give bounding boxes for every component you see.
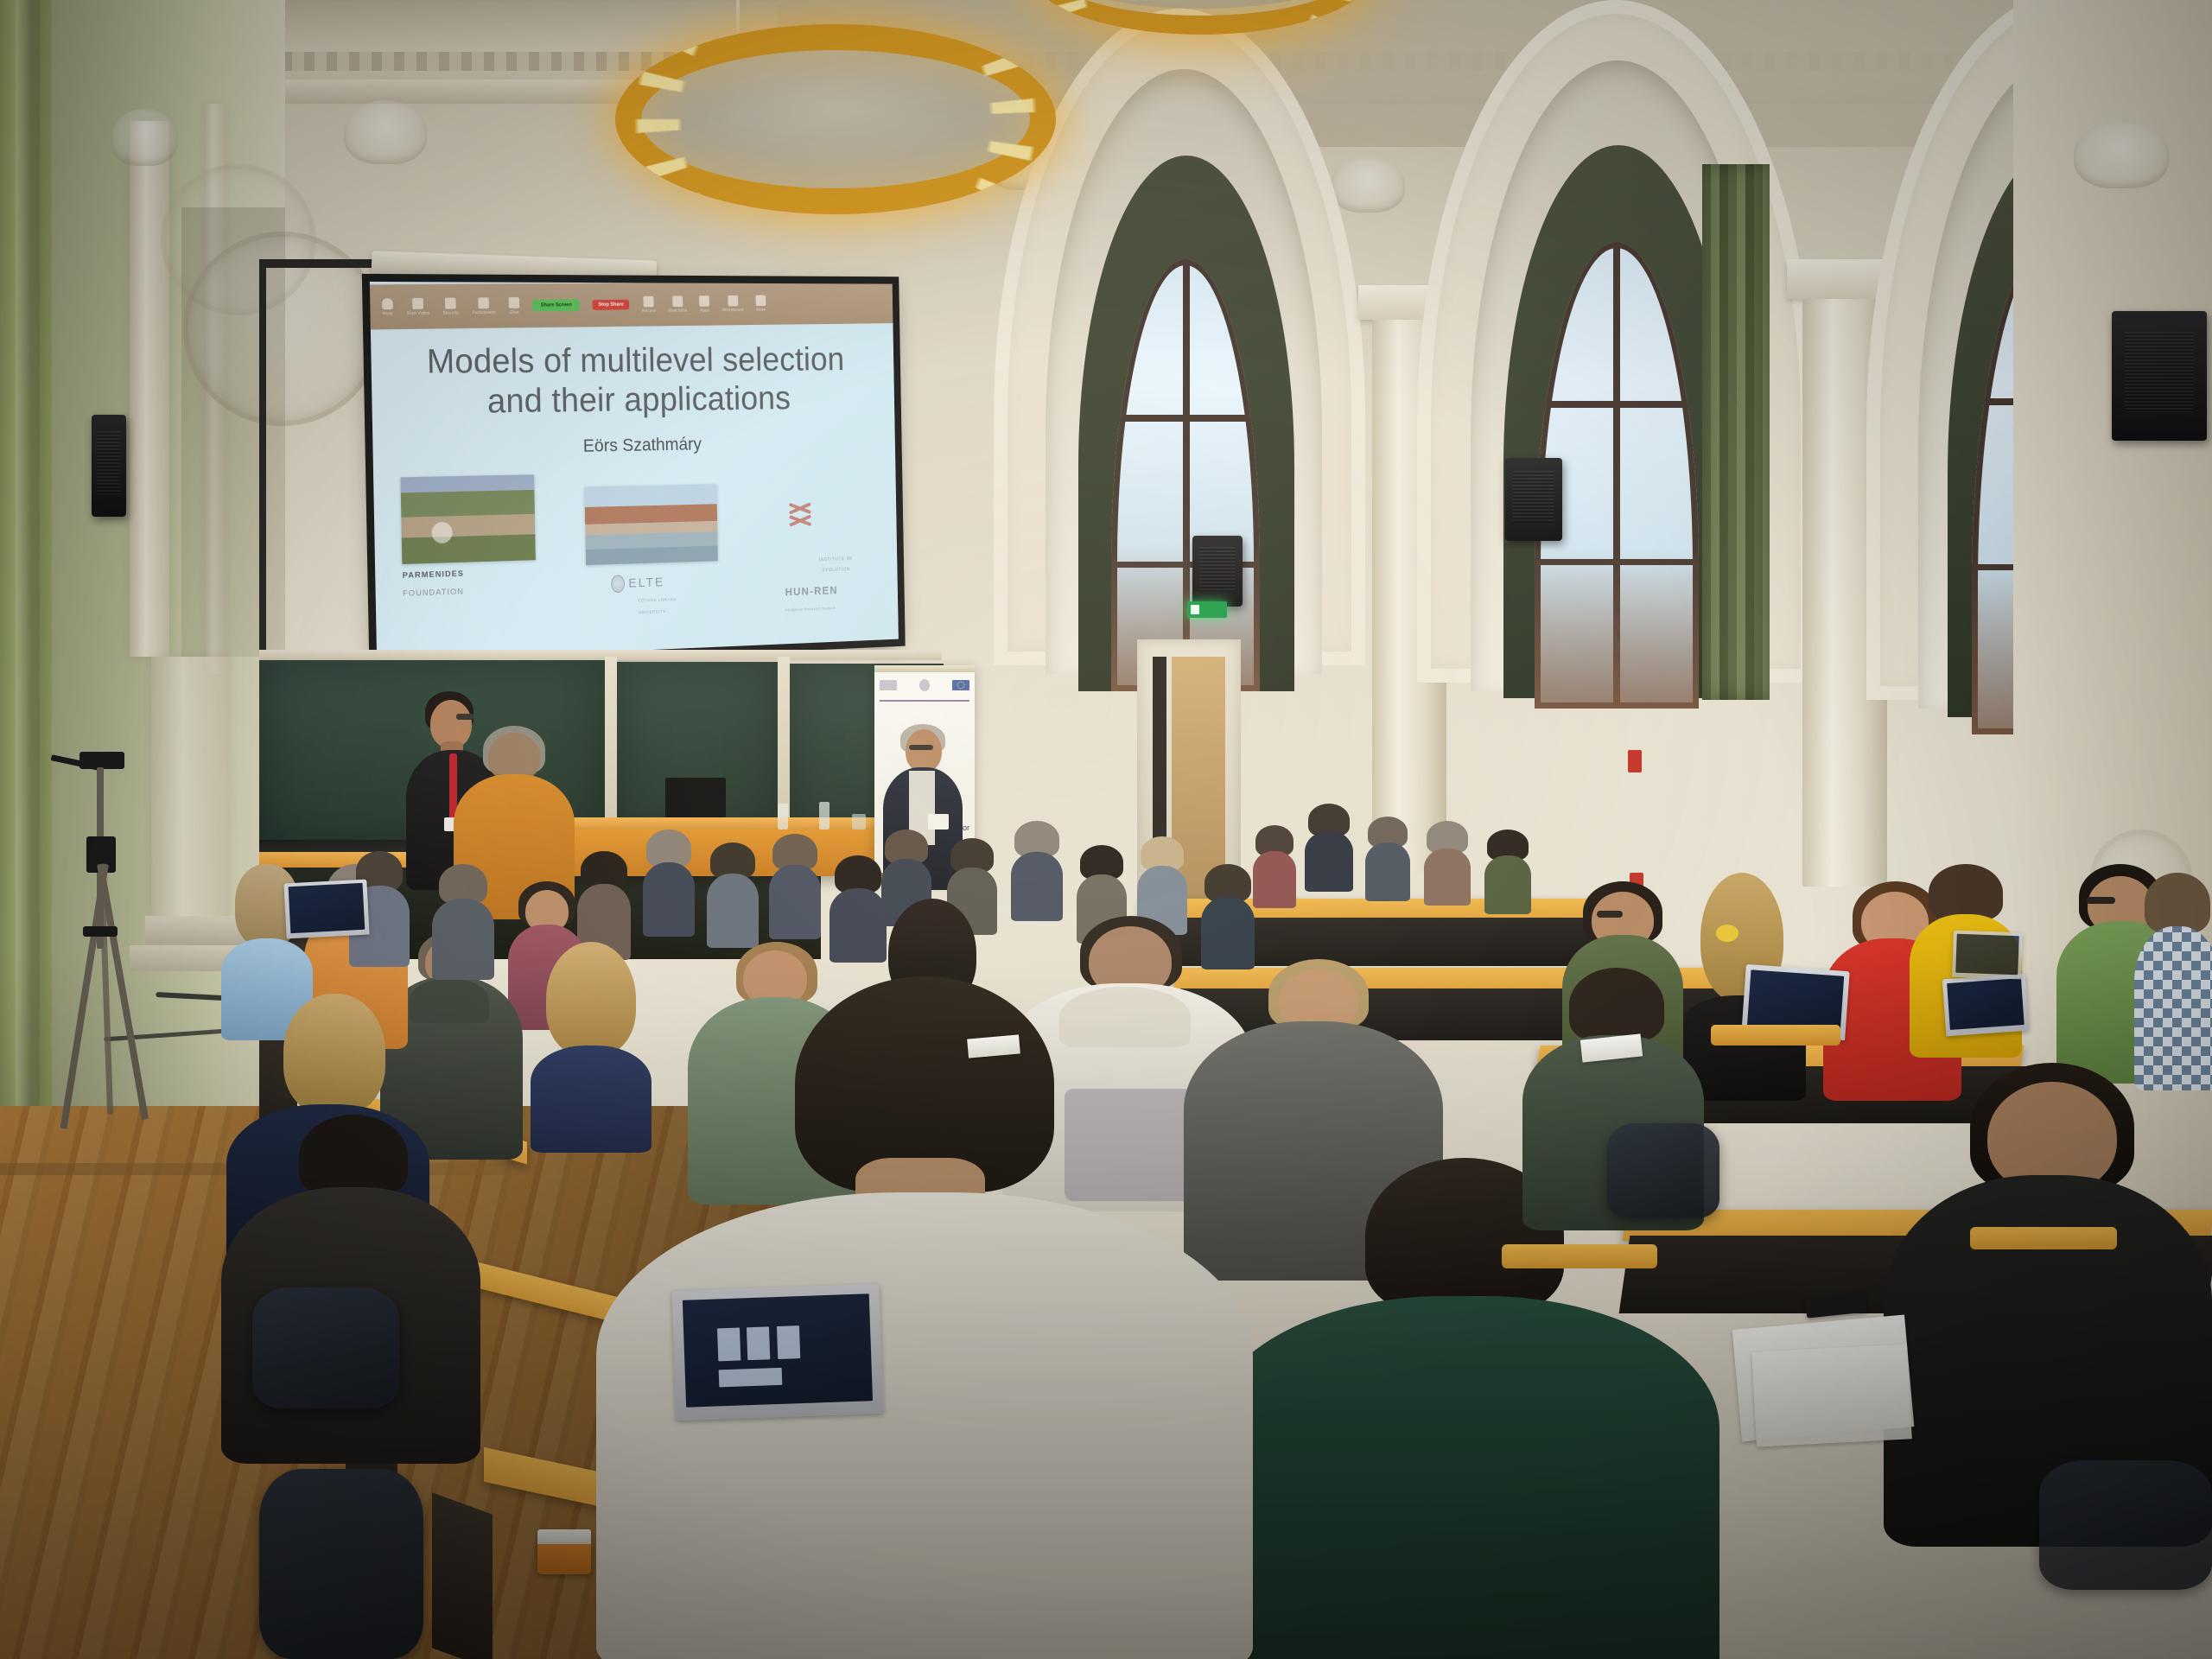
lectern-monitor [665, 778, 726, 817]
wall-speaker-right [2112, 311, 2207, 441]
wall-scroll-ornament-a [111, 109, 178, 166]
audience-mid-9 [643, 829, 695, 935]
curtain-arch-2 [1702, 164, 1770, 700]
record-icon [644, 296, 654, 307]
eu-flag-icon [952, 680, 969, 690]
chandelier-lamps [615, 24, 1056, 214]
more-icon [756, 295, 766, 305]
wall-speaker-left [92, 415, 126, 517]
reactions-icon [672, 296, 683, 307]
banner-divider [880, 700, 969, 702]
backpack-floor-1 [252, 1287, 399, 1408]
audience-left-rear-3 [829, 855, 887, 959]
jar-lid [537, 1529, 591, 1544]
zoom-start-video-button[interactable]: Start Video [406, 297, 429, 315]
parmenides-caption-2: FOUNDATION [403, 587, 464, 598]
audience-head-back-3 [1424, 821, 1471, 904]
audience-head-back-5 [1253, 825, 1296, 906]
elte-sub-1: EÖTVÖS LORÁND [639, 597, 677, 602]
ring-chandelier-1 [615, 24, 1056, 214]
video-camera-icon [412, 297, 423, 308]
backpack-floor-2 [259, 1469, 423, 1659]
wall-scroll-ornament-e [2074, 121, 2169, 188]
zoom-participants-button[interactable]: Participants [472, 297, 496, 315]
banner-logo-a [880, 680, 897, 690]
projection-screen: Mute Start Video Security Participants C… [370, 282, 899, 662]
lecture-hall-photo: Mute Start Video Security Participants C… [0, 0, 2212, 1659]
audience-head-back-1 [1305, 804, 1353, 890]
audience-green-hoodie-foreground [1210, 1158, 1719, 1659]
elte-sub-2: UNIVERSITY [639, 609, 666, 614]
bench-seat-upper [1711, 1025, 1840, 1046]
backpack-bench-right [1607, 1123, 1719, 1218]
audience-mid-7 [769, 834, 821, 938]
zoom-security-button[interactable]: Security [442, 297, 460, 315]
laptop-screen-foreground [683, 1294, 873, 1408]
hun-ren-subtitle: Hungarian Research Network [785, 606, 836, 612]
banner-top-rail [874, 665, 975, 672]
sage-curtain-fold [16, 0, 40, 1227]
chalkboard-top-rail [259, 650, 942, 660]
blazer-head [906, 729, 942, 772]
slide-author: Eörs Szathmáry [372, 431, 895, 460]
institute-caption-1: INSTITUTE OF [785, 556, 887, 563]
zoom-apps-button[interactable]: Apps [699, 296, 709, 313]
chat-bubble-icon [509, 296, 520, 308]
whiteboard-icon [728, 295, 738, 306]
apps-icon [699, 296, 709, 307]
audience-mid-3 [1011, 821, 1063, 919]
laptop-screen-right [1747, 969, 1844, 1033]
elte-photo [584, 484, 717, 565]
water-bottle-2 [819, 802, 829, 829]
green-polo-glasses-icon [2086, 897, 2115, 904]
slide-logo-row: PARMENIDES FOUNDATION ELTE EÖTVÖS LORÁND… [390, 458, 883, 634]
laptop-right-2[interactable] [1942, 974, 2029, 1037]
laptop-screen-right-3 [1955, 934, 2019, 975]
zoom-mute-button[interactable]: Mute [382, 298, 393, 316]
bench-end-left-5 [432, 1492, 493, 1659]
elte-wordmark: ELTE [628, 575, 664, 591]
zoom-record-button[interactable]: Record [642, 296, 656, 313]
emergency-exit-sign [1187, 601, 1227, 618]
laptop-right-3[interactable] [1952, 931, 2023, 980]
audience-head-back-4 [1484, 829, 1531, 912]
laptop-foreground[interactable] [671, 1284, 883, 1421]
shield-security-icon [445, 297, 456, 308]
wall-speaker-arch [1505, 458, 1562, 541]
banner-logo-b [919, 679, 930, 691]
wall-scroll-ornament-b [344, 100, 427, 164]
pilaster-lower-left [151, 657, 229, 916]
notebook-papers-2 [1751, 1344, 1912, 1446]
zoom-share-screen-button[interactable]: Share Screen [532, 299, 580, 311]
cup-on-desk [852, 814, 866, 829]
audience-mid-8 [707, 842, 759, 946]
wall-niche [181, 207, 285, 657]
zoom-chat-button[interactable]: Chat [509, 296, 520, 315]
zoom-whiteboard-button[interactable]: Whiteboard [722, 295, 744, 312]
audience-checkered-shirt [2134, 873, 2212, 1089]
slide-title-line-2: and their applications [399, 378, 870, 423]
laptop-left[interactable] [283, 880, 369, 939]
screen-support-left [259, 259, 266, 674]
beard-guy-glasses-icon [1597, 911, 1623, 918]
laptop-screen-left [288, 883, 365, 933]
audience-left-rear-1 [432, 864, 494, 976]
parmenides-building-photo [401, 474, 536, 563]
zoom-reactions-button[interactable]: Reactions [668, 296, 687, 313]
amber-jar [537, 1529, 591, 1574]
water-bottle-1 [778, 804, 788, 829]
backpack-right-foreground [2039, 1460, 2212, 1590]
bench-seat-mid [1502, 1244, 1657, 1268]
parmenides-caption-1: PARMENIDES [403, 569, 465, 580]
zoom-meeting-toolbar[interactable]: Mute Start Video Security Participants C… [370, 282, 893, 329]
participants-icon [479, 297, 490, 308]
blazer-glasses-icon [909, 745, 933, 750]
slide-title-line-1: Models of multilevel selection [398, 341, 869, 383]
hun-ren-wordmark: HUN-REN [785, 583, 837, 597]
zoom-stop-share-button[interactable]: Stop Share [593, 300, 630, 310]
ring-chandelier-2 [1028, 0, 1374, 35]
microphone-icon [382, 298, 393, 309]
blazer-name-badge [928, 814, 949, 829]
tripod-leg-brace [83, 926, 118, 937]
wall-speaker-mid [1192, 536, 1243, 607]
elte-campus-photo [584, 484, 717, 565]
presenter-glasses-icon [456, 714, 474, 720]
institute-caption-2: EVOLUTION [785, 566, 887, 575]
elte-seal-icon [611, 575, 625, 593]
audience-head-back-2 [1365, 817, 1410, 899]
chandelier-lamps-2 [1028, 0, 1374, 35]
banner-logo-row [880, 676, 969, 695]
laptop-screen-right-2 [1947, 978, 2024, 1031]
pilaster-left [130, 121, 169, 657]
zoom-more-button[interactable]: More [756, 295, 766, 312]
fire-extinguisher-sign [1628, 750, 1642, 772]
elte-logo: ELTE [611, 574, 665, 593]
slide-title: Models of multilevel selection and their… [398, 341, 870, 423]
bench-seat-right [1970, 1227, 2117, 1249]
parmenides-photo [401, 474, 536, 563]
yellow-scrunchie [1716, 925, 1738, 942]
presentation-slide: Mute Start Video Security Participants C… [370, 282, 899, 662]
